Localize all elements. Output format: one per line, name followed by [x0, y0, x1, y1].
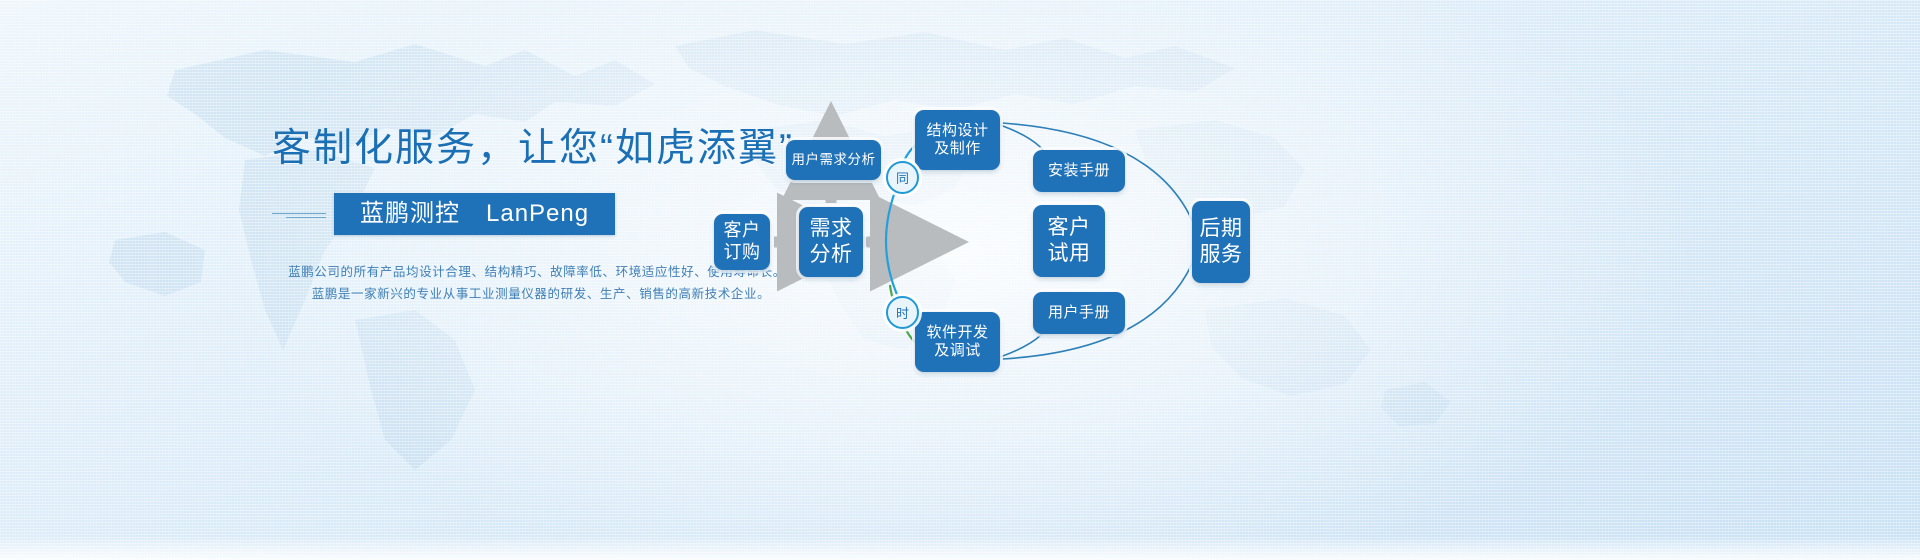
service-flow-diagram: 用户需求分析 客户 订购 需求 分析 结构设计 及制作 软件开发 及调试 — [700, 95, 1300, 415]
flow-node-software-development[interactable]: 软件开发 及调试 — [915, 312, 1000, 372]
flow-node-installation-manual[interactable]: 安装手册 — [1033, 150, 1125, 192]
flow-node-customer-trial[interactable]: 客户 试用 — [1033, 205, 1105, 277]
promo-banner: 客制化服务，让您“如虎添翼” 蓝鹏测控LanPeng 蓝鹏公司的所有产品均设计合… — [0, 0, 1920, 560]
flow-node-user-demand-analysis[interactable]: 用户需求分析 — [786, 140, 881, 180]
flow-node-after-sales-service-line1: 后期 — [1200, 216, 1243, 242]
flow-ring-simultaneous-shi: 时 — [886, 296, 919, 329]
flow-node-customer-order-line2: 订购 — [724, 242, 761, 264]
brand-name-en: LanPeng — [486, 200, 589, 227]
flow-node-after-sales-service[interactable]: 后期 服务 — [1192, 201, 1250, 283]
bottom-fade-strip — [0, 536, 1920, 560]
flow-ring-simultaneous-tong: 同 — [886, 161, 919, 194]
flow-node-after-sales-service-line2: 服务 — [1200, 242, 1243, 268]
flow-node-user-manual[interactable]: 用户手册 — [1033, 292, 1125, 334]
flow-node-customer-order-line1: 客户 — [724, 220, 761, 242]
flow-node-structural-design[interactable]: 结构设计 及制作 — [915, 110, 1000, 170]
flow-node-structural-design-line2: 及制作 — [926, 140, 988, 158]
flow-node-customer-order[interactable]: 客户 订购 — [714, 214, 770, 270]
brand-bar: 蓝鹏测控LanPeng — [334, 193, 615, 235]
flow-node-customer-trial-line2: 试用 — [1048, 241, 1091, 267]
flow-node-software-development-line1: 软件开发 — [926, 324, 988, 342]
flow-node-structural-design-line1: 结构设计 — [926, 122, 988, 140]
decorative-line — [272, 213, 326, 219]
flow-node-customer-trial-line1: 客户 — [1048, 215, 1091, 241]
flow-node-requirement-analysis-line1: 需求 — [810, 216, 853, 242]
flow-node-software-development-line2: 及调试 — [926, 342, 988, 360]
flow-node-requirement-analysis-line2: 分析 — [810, 242, 853, 268]
flow-node-requirement-analysis[interactable]: 需求 分析 — [799, 207, 863, 277]
brand-name-cn: 蓝鹏测控 — [360, 200, 460, 227]
